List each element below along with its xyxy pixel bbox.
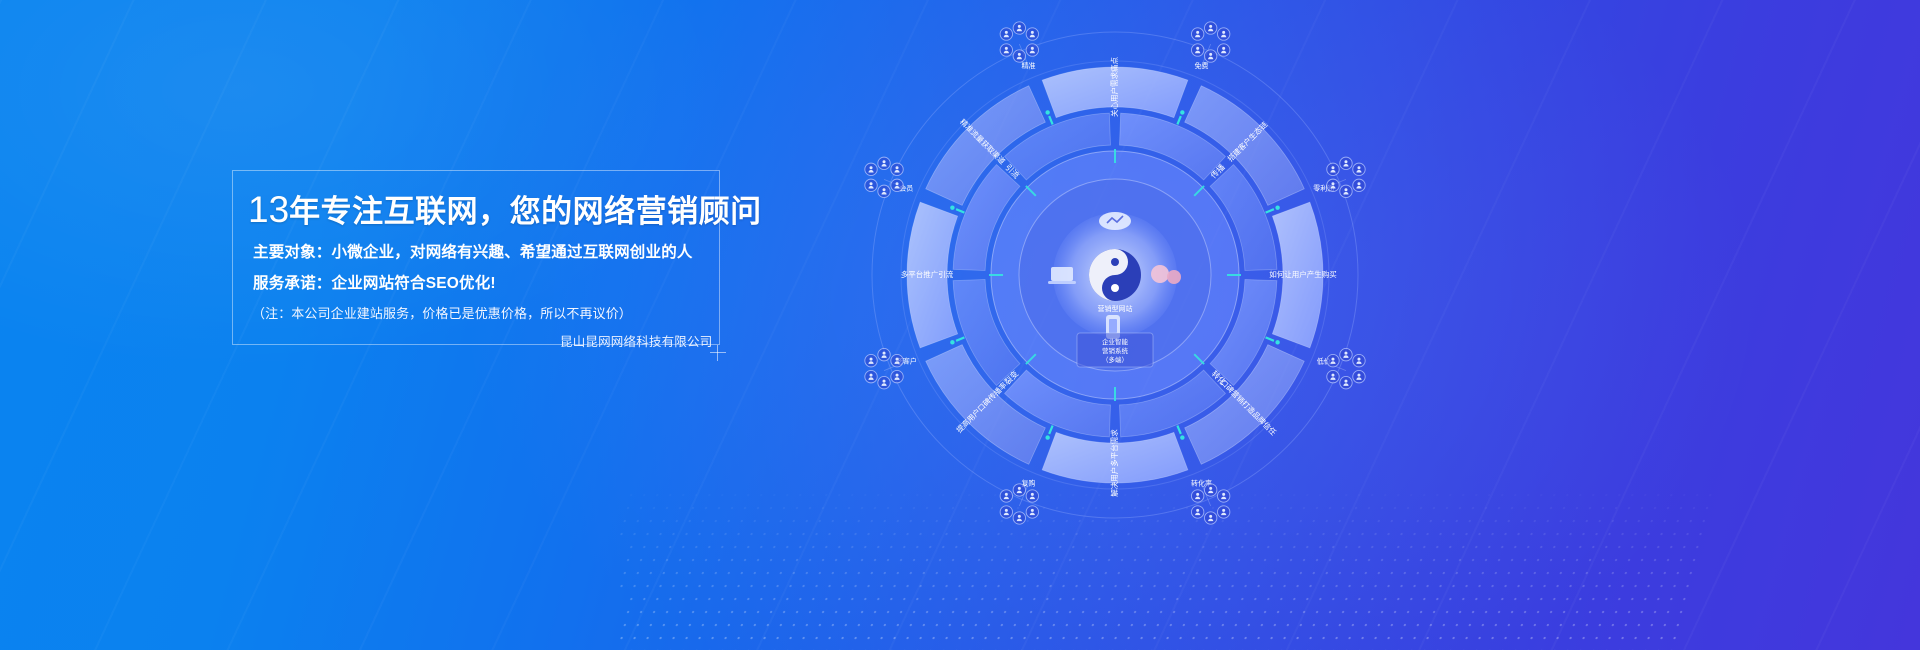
marketing-banner: 13年专注互联网，您的网络营销顾问 主要对象：小微企业，对网络有兴趣、希望通过互… xyxy=(0,0,1920,650)
flow-arrow-head xyxy=(950,340,954,344)
svg-text:营销系统: 营销系统 xyxy=(1102,346,1129,355)
flow-arrow xyxy=(1266,337,1274,340)
flow-arrow-head xyxy=(950,205,954,209)
flow-arrow xyxy=(956,337,964,340)
inner-system-label: 企业智能 营销系统 （多端） xyxy=(1077,333,1153,367)
user-node-cluster xyxy=(865,348,910,388)
flow-arrow-head xyxy=(1275,340,1279,344)
target-audience-line: 主要对象：小微企业，对网络有兴趣、希望通过互联网创业的人 xyxy=(253,240,693,262)
flow-arrow xyxy=(1049,426,1052,434)
core-label: 营销型网站 xyxy=(1098,304,1133,313)
corner-crosshair-decoration xyxy=(710,345,726,361)
core-emblem xyxy=(1089,249,1141,301)
outer-ring-label: 如何让用户产生购买 xyxy=(1269,269,1337,279)
outer-ring-label: 解决用户多平台需求 xyxy=(1109,429,1119,497)
flow-arrow xyxy=(1049,116,1052,124)
flow-arrow-head xyxy=(1275,205,1279,209)
flow-arrow-head xyxy=(1045,435,1049,439)
marketing-system-diagram: 营销型网站 xyxy=(855,15,1375,535)
flow-arrow xyxy=(1177,116,1180,124)
pricing-note-line: （注：本公司企业建站服务，价格已是优惠价格，所以不再议价） xyxy=(252,303,632,322)
outer-ring-label: 多平台推广引流 xyxy=(901,269,954,279)
svg-text:企业智能: 企业智能 xyxy=(1102,337,1129,346)
years-number: 13 xyxy=(248,189,289,230)
outer-ring-label: 关心用户需求痛点 xyxy=(1109,57,1119,117)
flow-arrow xyxy=(1266,209,1274,212)
service-promise-line: 服务承诺：企业网站符合SEO优化! xyxy=(253,271,496,293)
flow-arrow xyxy=(1177,426,1180,434)
headline-rest: 年专注互联网，您的网络营销顾问 xyxy=(289,194,762,229)
svg-text:（多端）: （多端） xyxy=(1102,355,1128,364)
user-node-cluster xyxy=(1320,348,1365,388)
flow-arrow-head xyxy=(1180,110,1184,114)
page-title: 13年专注互联网，您的网络营销顾问 xyxy=(248,186,762,231)
company-name: 昆山昆网网络科技有限公司 xyxy=(560,331,712,350)
flow-arrow-head xyxy=(1045,110,1049,114)
flow-arrow-head xyxy=(1180,435,1184,439)
flow-arrow xyxy=(956,209,964,212)
